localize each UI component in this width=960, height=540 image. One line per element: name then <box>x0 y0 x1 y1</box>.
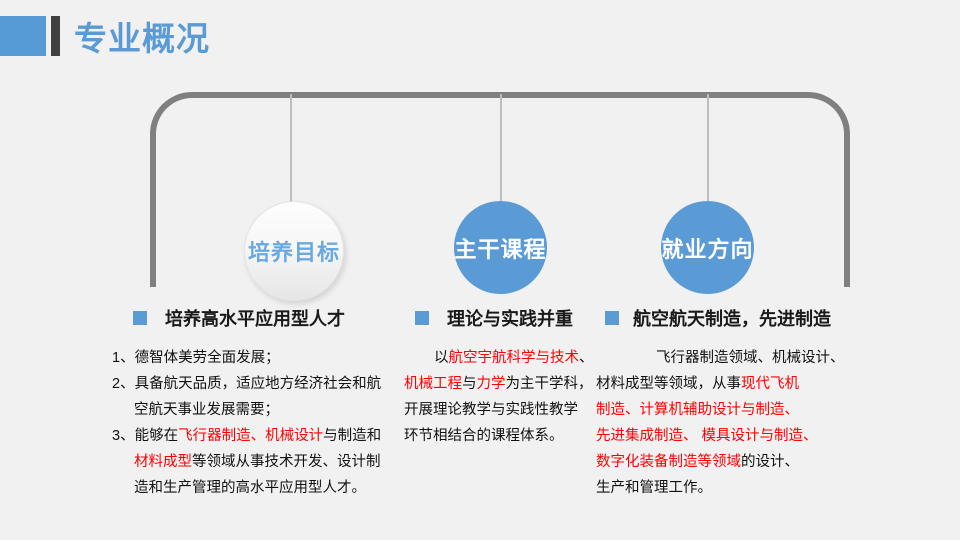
line-text: 生产和管理工作。 <box>596 480 712 496</box>
line-text: 与 <box>462 376 477 392</box>
line-text: 、 <box>579 350 594 366</box>
highlight-text: 制造、计算机辅助设计与制造、 <box>596 402 799 418</box>
connector-stem-2 <box>500 94 502 206</box>
line-text: 1、德智体美劳全面发展； <box>112 350 280 366</box>
list-item: 环节相结合的课程体系。 <box>404 423 614 449</box>
line-text: 空航天事业发展需要； <box>134 402 279 418</box>
content-column-3: 航空航天制造，先进制造 飞行器制造领域、机械设计、 材料成型等领域，从事现代飞机… <box>596 305 886 501</box>
content-column-2: 理论与实践并重 以航空宇航科学与技术、 机械工程与力学为主干学科， 开展理论教学… <box>404 305 614 449</box>
column-2-headline-text: 理论与实践并重 <box>447 305 573 331</box>
list-item: 空航天事业发展需要； <box>112 397 404 423</box>
list-item: 生产和管理工作。 <box>596 475 886 501</box>
column-1-body: 1、德智体美劳全面发展； 2、具备航天品质，适应地方经济社会和航 空航天事业发展… <box>112 345 404 501</box>
column-2-headline: 理论与实践并重 <box>404 305 614 331</box>
bullet-square-icon <box>415 311 429 325</box>
bullet-square-icon <box>133 311 147 325</box>
connector-stem-1 <box>290 94 292 206</box>
list-item: 开展理论教学与实践性教学 <box>404 397 614 423</box>
header-accent-dark-block <box>51 16 60 56</box>
list-item: 机械工程与力学为主干学科， <box>404 371 614 397</box>
highlight-text: 先进集成制造、 模具设计与制造、 <box>596 428 818 444</box>
highlight-text: 航空宇航科学与技术 <box>449 350 580 366</box>
column-3-body: 飞行器制造领域、机械设计、 材料成型等领域，从事现代飞机 制造、计算机辅助设计与… <box>596 345 886 501</box>
node-circle-label-1: 培养目标 <box>248 235 340 267</box>
line-text: 以 <box>434 350 449 366</box>
node-circle-label-3: 就业方向 <box>661 232 753 264</box>
highlight-text: 现代飞机 <box>741 376 799 392</box>
bullet-square-icon <box>605 311 619 325</box>
line-text: 为主干学科， <box>506 376 593 392</box>
header-accent-blue-block <box>0 16 46 56</box>
column-1-headline-text: 培养高水平应用型人才 <box>165 305 345 331</box>
list-item: 材料成型等领域，从事现代飞机 <box>596 371 886 397</box>
list-item: 1、德智体美劳全面发展； <box>112 345 404 371</box>
highlight-text: 力学 <box>477 376 506 392</box>
highlight-text: 飞行器制造、机械设计 <box>178 428 323 444</box>
list-item: 制造、计算机辅助设计与制造、 <box>596 397 886 423</box>
list-item: 数字化装备制造等领域的设计、 <box>596 449 886 475</box>
list-item: 造和生产管理的高水平应用型人才。 <box>112 475 404 501</box>
list-item: 飞行器制造领域、机械设计、 <box>596 345 886 371</box>
line-text: 与制造和 <box>323 428 381 444</box>
node-circle-label-2: 主干课程 <box>454 232 546 264</box>
list-item: 先进集成制造、 模具设计与制造、 <box>596 423 886 449</box>
line-text: 造和生产管理的高水平应用型人才。 <box>134 480 366 496</box>
line-text: 的设计、 <box>741 454 799 470</box>
node-circle-core-courses[interactable]: 主干课程 <box>454 201 547 294</box>
line-text: 飞行器制造领域、机械设计、 <box>656 350 845 366</box>
list-item: 以航空宇航科学与技术、 <box>404 345 614 371</box>
line-text: 环节相结合的课程体系。 <box>404 428 564 444</box>
column-3-headline: 航空航天制造，先进制造 <box>596 305 886 331</box>
highlight-text: 机械工程 <box>404 376 462 392</box>
column-3-headline-text: 航空航天制造，先进制造 <box>633 305 831 331</box>
node-circle-training-goal[interactable]: 培养目标 <box>244 201 344 301</box>
line-text: 材料成型等领域，从事 <box>596 376 741 392</box>
highlight-text: 材料成型 <box>134 454 192 470</box>
line-text: 3、能够在 <box>112 428 178 444</box>
list-item: 2、具备航天品质，适应地方经济社会和航 <box>112 371 404 397</box>
line-text: 2、具备航天品质，适应地方经济社会和航 <box>112 376 381 392</box>
highlight-text: 数字化装备制造等领域 <box>596 454 741 470</box>
line-text: 等领域从事技术开发、设计制 <box>192 454 381 470</box>
content-column-1: 培养高水平应用型人才 1、德智体美劳全面发展； 2、具备航天品质，适应地方经济社… <box>112 305 404 501</box>
page-title: 专业概况 <box>74 12 210 60</box>
slide-canvas: 专业概况 培养目标 主干课程 就业方向 培养高水平应用型人才 1、德智体美劳全面… <box>0 0 960 540</box>
connector-stem-3 <box>707 94 709 206</box>
list-item: 材料成型等领域从事技术开发、设计制 <box>112 449 404 475</box>
list-item: 3、能够在飞行器制造、机械设计与制造和 <box>112 423 404 449</box>
column-2-body: 以航空宇航科学与技术、 机械工程与力学为主干学科， 开展理论教学与实践性教学 环… <box>404 345 614 449</box>
node-circle-employment[interactable]: 就业方向 <box>661 201 754 294</box>
line-text: 开展理论教学与实践性教学 <box>404 402 578 418</box>
column-1-headline: 培养高水平应用型人才 <box>112 305 404 331</box>
